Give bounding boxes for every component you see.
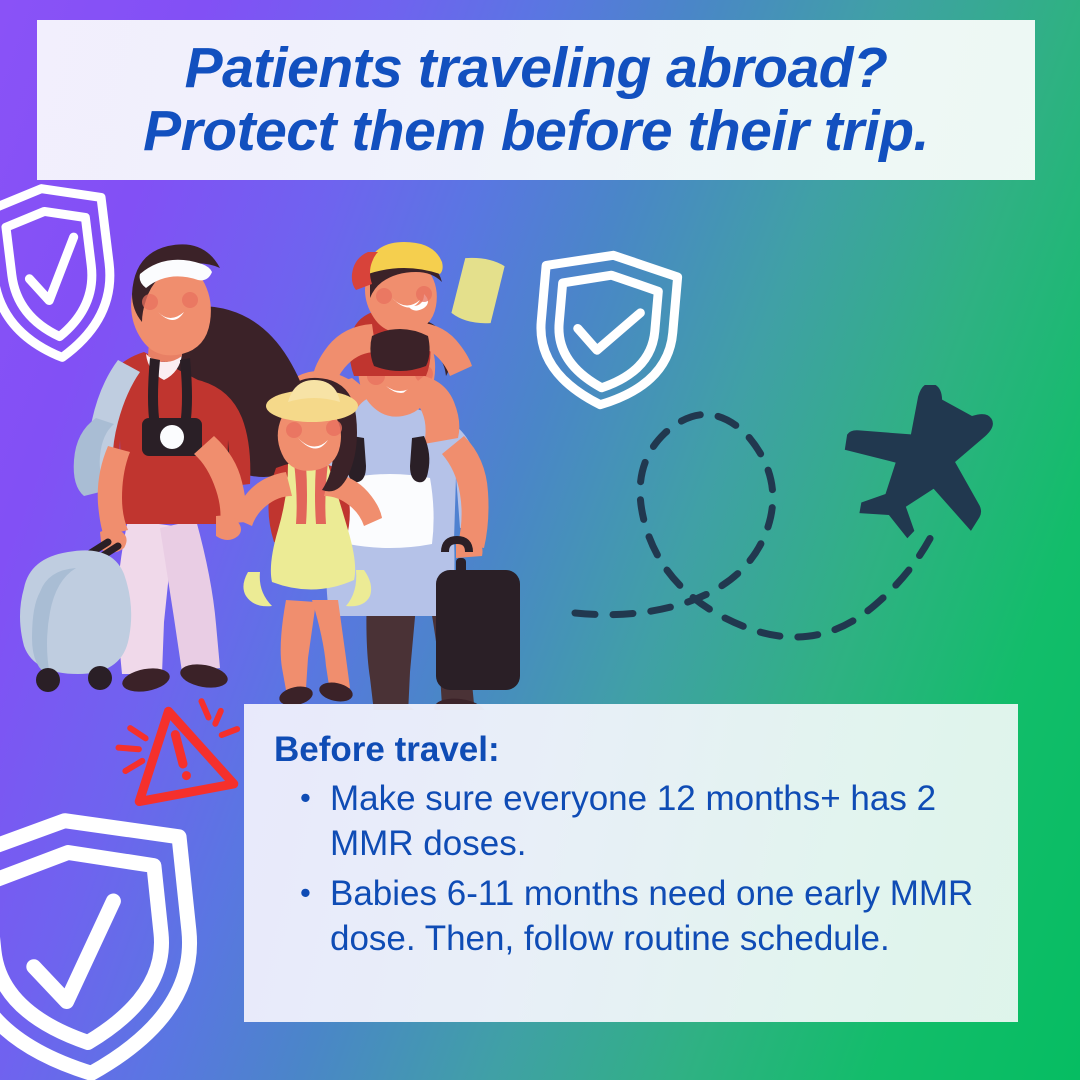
traveling-family-illustration	[0, 240, 560, 710]
dashed-flight-path-icon	[555, 385, 1055, 655]
headline-line-1: Patients traveling abroad?	[185, 37, 888, 100]
before-travel-list: Make sure everyone 12 months+ has 2 MMR …	[274, 776, 996, 961]
headline-line-2: Protect them before their trip.	[143, 100, 929, 163]
shield-check-icon	[0, 812, 208, 1080]
poster-canvas: Patients traveling abroad? Protect them …	[0, 0, 1080, 1080]
list-item: Babies 6-11 months need one early MMR do…	[330, 871, 996, 961]
list-item: Make sure everyone 12 months+ has 2 MMR …	[330, 776, 996, 866]
before-travel-title: Before travel:	[274, 730, 996, 770]
warning-triangle-icon	[112, 694, 252, 814]
before-travel-card: Before travel: Make sure everyone 12 mon…	[244, 704, 1018, 1022]
headline-card: Patients traveling abroad? Protect them …	[37, 20, 1035, 180]
